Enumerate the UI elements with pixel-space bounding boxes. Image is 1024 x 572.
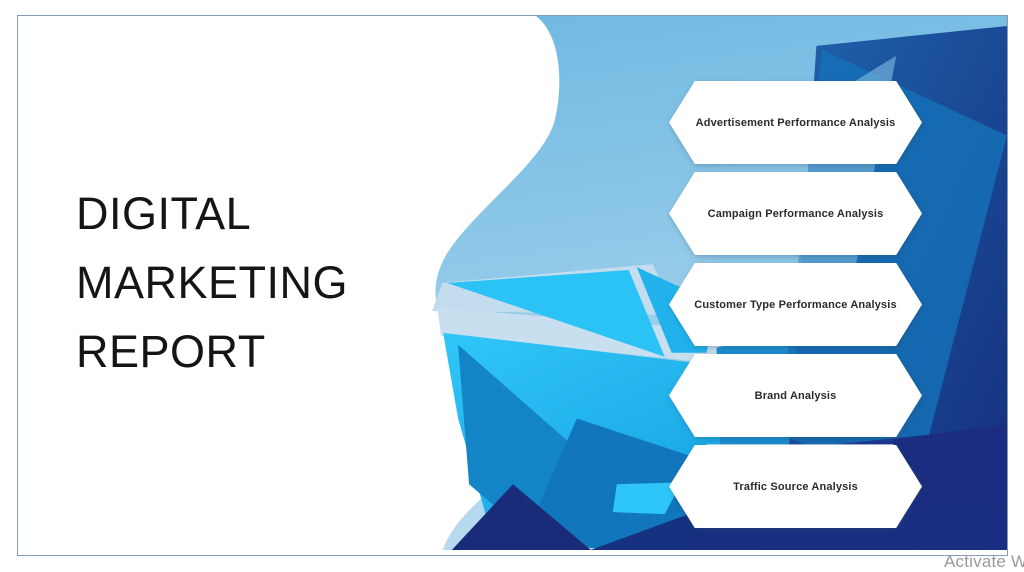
page-title-line-2: MARKETING	[76, 248, 436, 317]
slide-root: DIGITAL MARKETING REPORT Advertisement P…	[0, 0, 1024, 572]
hexagon-item-traffic-source-analysis[interactable]: Traffic Source Analysis	[669, 445, 922, 528]
page-title: DIGITAL MARKETING REPORT	[76, 179, 436, 386]
hexagon-item-label: Campaign Performance Analysis	[669, 172, 922, 255]
hexagon-item-label: Brand Analysis	[669, 354, 922, 437]
hexagon-item-campaign-performance-analysis[interactable]: Campaign Performance Analysis	[669, 172, 922, 255]
hexagon-item-label: Advertisement Performance Analysis	[669, 81, 922, 164]
hexagon-item-label: Customer Type Performance Analysis	[669, 263, 922, 346]
page-title-line-1: DIGITAL	[76, 179, 436, 248]
hexagon-item-brand-analysis[interactable]: Brand Analysis	[669, 354, 922, 437]
windows-activation-watermark: Activate W	[944, 552, 1024, 572]
analysis-hexagon-list: Advertisement Performance Analysis Campa…	[669, 66, 937, 556]
page-title-line-3: REPORT	[76, 317, 436, 386]
hexagon-item-customer-type-performance-analysis[interactable]: Customer Type Performance Analysis	[669, 263, 922, 346]
hexagon-item-label: Traffic Source Analysis	[669, 445, 922, 528]
hexagon-item-advertisement-performance-analysis[interactable]: Advertisement Performance Analysis	[669, 81, 922, 164]
slide-canvas: DIGITAL MARKETING REPORT Advertisement P…	[17, 15, 1008, 556]
